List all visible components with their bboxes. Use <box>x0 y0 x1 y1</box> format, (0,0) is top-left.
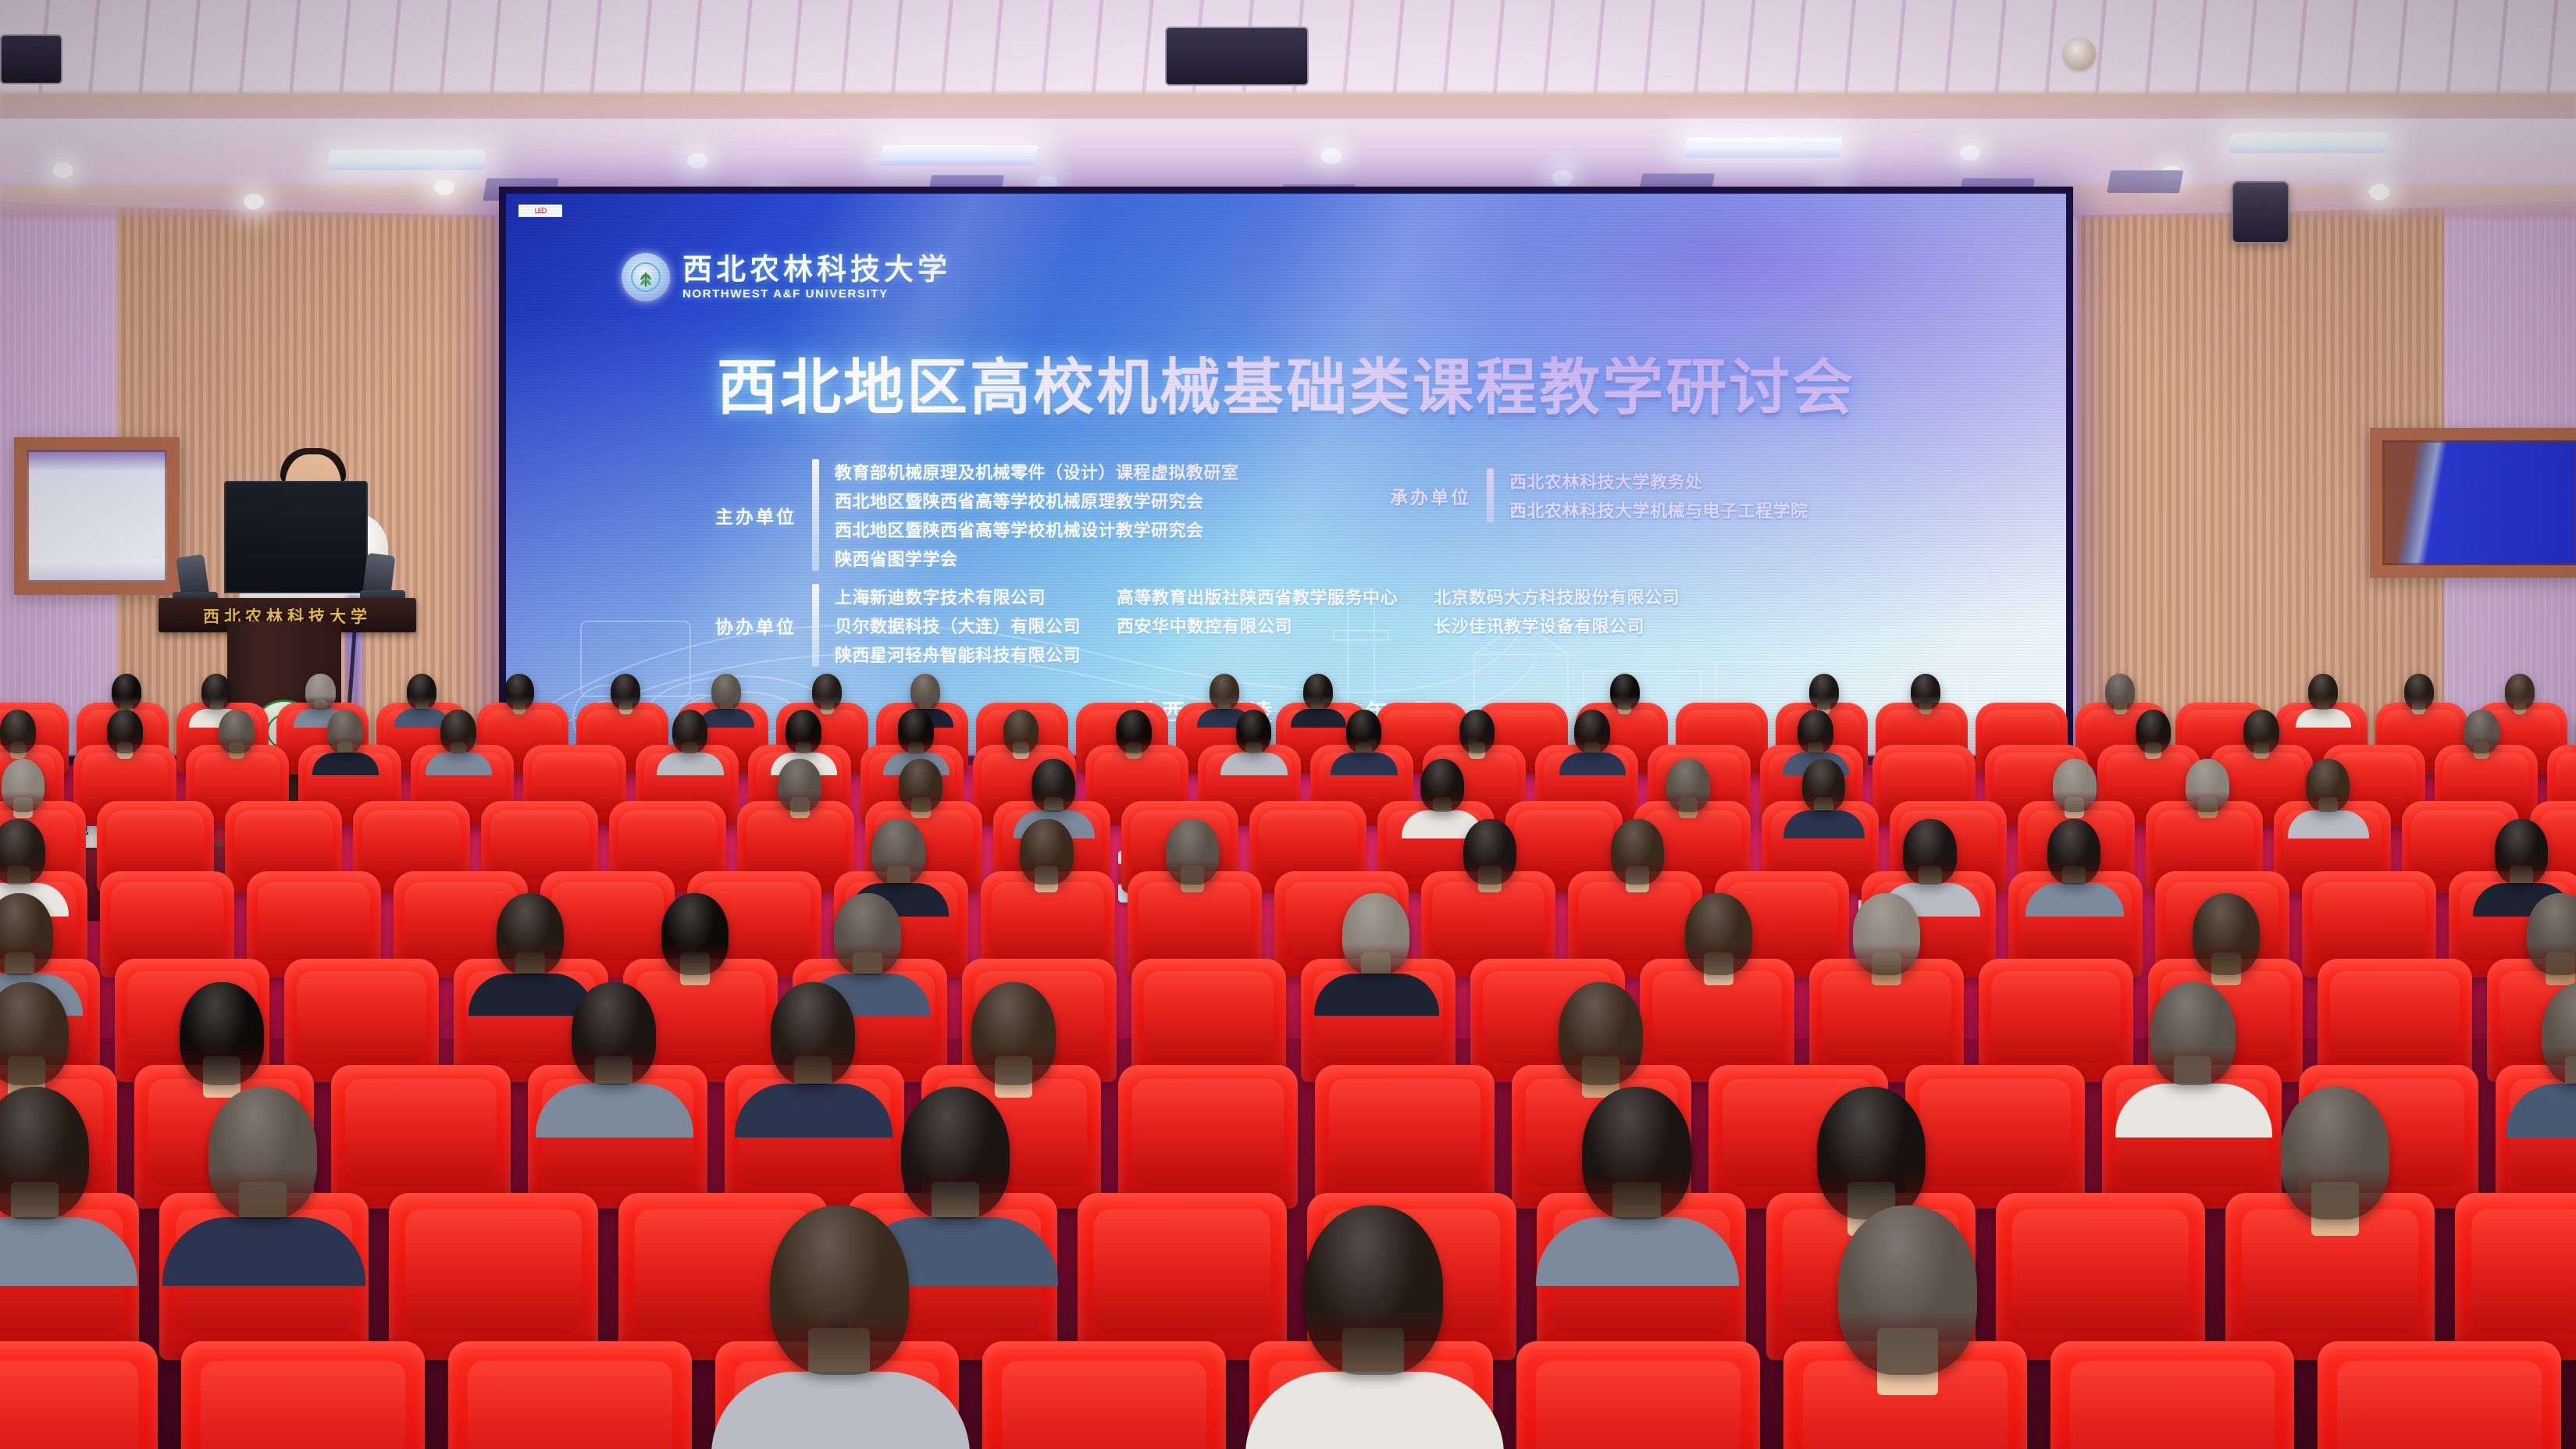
ceiling-downlight <box>1037 175 1057 190</box>
audience-member <box>219 710 255 753</box>
auditorium-photo: 西北农林科技大学 LED 西北农林科技大学 NORTHWEST A&F UNIV… <box>0 0 2576 1449</box>
person-shoulders <box>2026 883 2125 917</box>
audience-member <box>1210 674 1239 710</box>
seat[interactable] <box>1516 1341 1760 1449</box>
section-divider <box>812 459 819 571</box>
slide-section-organizer: 主办单位 教育部机械原理及机械零件（设计）课程虚拟教研室 西北地区暨陕西省高等学… <box>715 459 1239 571</box>
person-shoulders <box>162 1217 365 1287</box>
audience-member <box>778 759 821 812</box>
audience-member <box>834 893 901 975</box>
section-label: 协办单位 <box>715 612 796 639</box>
audience-member <box>812 674 842 710</box>
person-shoulders <box>1314 974 1439 1016</box>
org-line: 长沙佳讯教学设备有限公司 <box>1434 613 1680 638</box>
audience-member <box>899 759 942 812</box>
audience-member <box>1853 893 1920 975</box>
audience-member <box>901 1087 1010 1219</box>
audience-member <box>440 710 476 753</box>
audience-member <box>572 982 656 1085</box>
audience-member <box>201 674 231 710</box>
org-line: 上海新迪数字技术有限公司 <box>835 584 1081 609</box>
audience-member <box>1903 819 1956 884</box>
seat[interactable] <box>284 959 439 1082</box>
ceiling-panel-light <box>879 145 1039 166</box>
audience-member <box>871 819 925 884</box>
person-shoulders <box>1783 810 1865 838</box>
audience-member <box>407 674 436 710</box>
section-label: 承办单位 <box>1390 482 1471 509</box>
audience-member <box>2047 819 2100 884</box>
person-shoulders <box>1220 753 1287 775</box>
wheat-emblem-icon <box>622 253 670 301</box>
slide-title: 西北地区高校机械基础类课程教学研讨会 <box>506 339 2066 426</box>
ceiling-speaker-icon <box>0 34 62 84</box>
org-line: 陕西星河轻舟智能科技有限公司 <box>835 642 1081 667</box>
org-line: 教育部机械原理及机械零件（设计）课程虚拟教研室 <box>835 459 1239 484</box>
section-divider <box>1487 468 1494 522</box>
audience-member <box>770 1205 909 1375</box>
ceiling-downlight <box>1552 170 1573 186</box>
person-shoulders <box>1536 1217 1739 1287</box>
audience-member <box>1166 819 1219 884</box>
audience-member <box>672 710 708 753</box>
ceiling-panel-light <box>1683 137 1843 158</box>
audience-member <box>2505 674 2535 710</box>
seat[interactable] <box>0 1341 158 1449</box>
audience-member <box>2281 1087 2390 1219</box>
seat[interactable] <box>1979 959 2133 1082</box>
person-shoulders <box>699 709 754 728</box>
audience-member <box>1611 819 1664 884</box>
audience-member <box>2495 819 2548 884</box>
ceiling-downlight <box>434 180 454 195</box>
audience-member <box>1610 674 1640 710</box>
audience-member <box>1003 710 1039 753</box>
audience-member <box>180 982 264 1085</box>
audience-member <box>2053 759 2097 812</box>
audience-member <box>112 674 141 710</box>
seat[interactable] <box>982 1341 1226 1449</box>
seat[interactable] <box>448 1341 692 1449</box>
ceiling-downlight <box>687 153 707 169</box>
audience-member <box>2186 759 2229 812</box>
audience-member <box>497 893 564 975</box>
logo-text-cn: 西北农林科技大学 <box>682 255 951 284</box>
ceiling-downlight <box>1960 145 1980 161</box>
wall-window-right <box>2370 428 2576 578</box>
audience-member <box>898 710 934 753</box>
seat[interactable] <box>1078 1193 1287 1360</box>
seat[interactable] <box>1996 1193 2205 1360</box>
org-line: 西北地区暨陕西省高等学校机械原理教学研究会 <box>835 488 1239 513</box>
seat[interactable] <box>2318 1341 2561 1449</box>
audience-member <box>0 710 36 753</box>
person-shoulders <box>1291 709 1346 728</box>
slide-university-logo: 西北农林科技大学 NORTHWEST A&F UNIVERSITY <box>622 253 951 301</box>
ceiling-air-vent-icon <box>2106 170 2183 194</box>
section-label: 主办单位 <box>715 502 796 529</box>
seat[interactable] <box>1118 1065 1298 1209</box>
ceiling-panel-light <box>326 150 486 170</box>
seat[interactable] <box>1905 1065 2085 1209</box>
audience-member <box>2105 674 2135 710</box>
wall-speaker-icon <box>2232 181 2289 244</box>
audience-member <box>2404 674 2434 710</box>
audience-member <box>2308 674 2338 710</box>
audience-member <box>971 982 1056 1085</box>
person-shoulders <box>1559 753 1626 775</box>
audience-member <box>786 710 821 753</box>
audience-member <box>711 674 741 710</box>
audience-member <box>1685 893 1752 975</box>
person-shoulders <box>735 1084 893 1137</box>
audience-member <box>1463 819 1516 884</box>
audience-seating <box>0 734 2576 1449</box>
person-shoulders <box>426 753 492 775</box>
logo-text-en: NORTHWEST A&F UNIVERSITY <box>682 288 951 300</box>
seat[interactable] <box>2318 959 2472 1082</box>
audience-member <box>1020 819 1073 884</box>
audience-member <box>1838 1205 1977 1375</box>
audience-member <box>1809 674 1839 710</box>
audience-member <box>305 674 335 710</box>
person-shoulders <box>2296 709 2351 728</box>
person-shoulders <box>536 1084 693 1137</box>
seat[interactable] <box>2050 1341 2294 1449</box>
audience-member <box>2306 759 2350 812</box>
seat[interactable] <box>2455 1193 2576 1360</box>
audience-member <box>2150 982 2235 1085</box>
audience-member <box>611 674 640 710</box>
audience-member <box>2136 710 2172 753</box>
ceiling-panel-light <box>2229 133 2388 153</box>
audience-member <box>1420 759 1464 812</box>
audience-member <box>504 674 534 710</box>
audience-member <box>327 710 363 753</box>
slide-section-coorganizer: 协办单位 上海新迪数字技术有限公司 贝尔数据科技（大连）有限公司 陕西星河轻舟智… <box>715 584 1680 667</box>
ceiling-vent-grille-icon <box>1165 27 1309 86</box>
audience-member <box>910 674 940 710</box>
audience-member <box>1666 759 1710 812</box>
person-shoulders <box>657 753 723 775</box>
org-line: 西安华中数控有限公司 <box>1117 613 1398 638</box>
org-line: 北京数码大方科技股份有限公司 <box>1434 584 1680 609</box>
audience-member <box>1116 710 1152 753</box>
audience-member <box>1911 674 1940 710</box>
audience-member <box>0 819 45 884</box>
audience-member <box>1459 710 1495 753</box>
ceiling-downlight <box>53 162 73 178</box>
ceiling-downlight <box>244 194 264 209</box>
org-line: 西北地区暨陕西省高等学校机械设计教学研究会 <box>835 517 1239 542</box>
screen-corner-tag: LED <box>518 205 562 217</box>
audience-member <box>208 1087 318 1219</box>
audience-member <box>1802 759 1846 812</box>
audience-member <box>1031 759 1075 812</box>
ceiling-downlight <box>1321 148 1341 164</box>
audience-member <box>2 759 45 812</box>
audience-member <box>1797 710 1833 753</box>
audience-member <box>1817 1087 1926 1219</box>
slide-section-host: 承办单位 西北农林科技大学教务处 西北农林科技大学机械与电子工程学院 <box>1390 468 1808 522</box>
org-line: 西北农林科技大学教务处 <box>1509 468 1808 493</box>
audience-member <box>1574 710 1610 753</box>
seat[interactable] <box>1131 959 1286 1082</box>
seat[interactable] <box>331 1065 511 1209</box>
person-shoulders <box>469 974 593 1016</box>
person-shoulders <box>2115 1084 2273 1137</box>
org-line: 贝尔数据科技（大连）有限公司 <box>835 613 1081 638</box>
audience-member <box>2243 710 2279 753</box>
ceiling-downlight <box>2369 184 2389 200</box>
audience-member <box>1342 893 1409 975</box>
audience-member <box>661 893 729 975</box>
audience-member <box>1582 1087 1691 1219</box>
audience-member <box>1236 710 1272 753</box>
org-line: 陕西省图学学会 <box>835 546 1239 571</box>
audience-member <box>1303 674 1333 710</box>
audience-member <box>1304 1205 1443 1375</box>
org-line: 高等教育出版社陕西省教学服务中心 <box>1117 584 1398 609</box>
person-shoulders <box>2288 810 2369 838</box>
seat[interactable] <box>181 1341 425 1449</box>
audience-member <box>771 982 855 1085</box>
audience-member <box>107 710 143 753</box>
section-divider <box>812 584 819 667</box>
seat[interactable] <box>389 1193 598 1360</box>
audience-member <box>1559 982 1643 1085</box>
audience-member <box>2464 710 2499 753</box>
laptop-icon <box>224 481 368 593</box>
audience-member <box>2193 893 2260 975</box>
person-shoulders <box>1331 753 1397 775</box>
org-line: 西北农林科技大学机械与电子工程学院 <box>1509 497 1808 522</box>
seat[interactable] <box>1315 1065 1495 1209</box>
smoke-detector-icon <box>2063 37 2096 70</box>
audience-member <box>1346 710 1382 753</box>
person-shoulders <box>312 753 379 775</box>
